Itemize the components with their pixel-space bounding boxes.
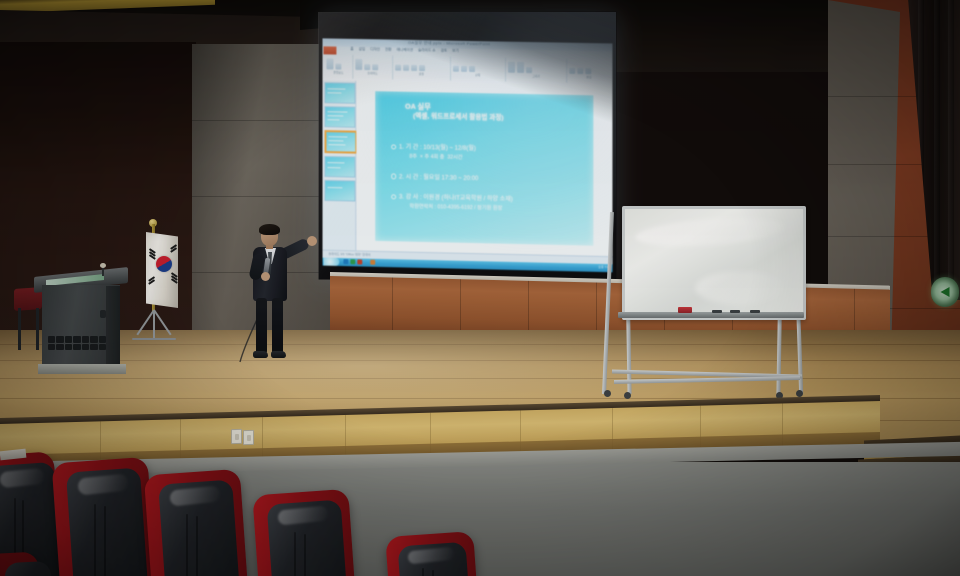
presenter	[243, 226, 327, 370]
slide-bullet: 2. 시 간 : 월요일 17:30 ~ 20:00	[391, 173, 587, 185]
ribbon-tab[interactable]: 전환	[385, 47, 392, 53]
emergency-exit-icon	[931, 277, 959, 307]
presenter-right-hand	[307, 236, 317, 246]
presenter-legs	[256, 298, 284, 356]
mobile-whiteboard	[600, 206, 810, 402]
whiteboard-surface[interactable]	[622, 206, 806, 320]
lectern-podium	[40, 272, 122, 376]
whiteboard-glare	[695, 271, 785, 305]
ribbon-tab[interactable]: 검토	[441, 48, 448, 54]
current-slide[interactable]: OA 실무 (엑셀, 워드프로세서 활용법 과정) 1. 기 간 : 10/13…	[375, 91, 593, 246]
flag-tripod-base	[132, 310, 176, 340]
status-bar-text: 슬라이드 3/5 "Office 테마" 한국어	[328, 252, 370, 257]
layout-icon[interactable]	[364, 64, 370, 70]
lectern-control-panel[interactable]	[48, 336, 106, 350]
find-icon[interactable]	[570, 68, 576, 74]
slide-bullet-subtext: 학원연락처 : 010-4395-6192 / 정기원 원장	[391, 204, 587, 216]
ribbon-tab[interactable]: 홈	[350, 47, 353, 53]
bullet-dot-icon	[391, 144, 396, 149]
lectern-side	[106, 286, 120, 364]
italic-icon[interactable]	[403, 65, 409, 71]
select-icon[interactable]	[586, 68, 592, 74]
slide-title-line1: OA 실무	[405, 102, 431, 111]
shapes-icon[interactable]	[508, 62, 515, 73]
align-icon[interactable]	[469, 66, 475, 72]
new-slide-icon[interactable]	[355, 59, 362, 70]
auditorium-seat-row	[0, 440, 960, 576]
ribbon-group-label: 클립보드	[326, 70, 350, 74]
ribbon-group-label: 글꼴	[395, 72, 448, 77]
ribbon-group-label: 단락	[453, 73, 503, 78]
gooseneck-microphone-icon	[102, 266, 104, 276]
whiteboard-marker-tray	[618, 312, 804, 318]
slide-title: OA 실무 (엑셀, 워드프로세서 활용법 과정)	[405, 102, 585, 125]
ribbon-tab[interactable]: 삽입	[359, 47, 366, 53]
slide-bullet-text: 2. 시 간 : 월요일 17:30 ~ 20:00	[399, 174, 478, 182]
powerpoint-workspace: OA 실무 (엑셀, 워드프로세서 활용법 과정) 1. 기 간 : 10/13…	[323, 80, 613, 256]
lectern-knob	[100, 310, 106, 318]
ribbon-group-label: 그리기	[508, 74, 565, 79]
ribbon-group-drawing[interactable]: 그리기	[506, 58, 568, 83]
copy-icon[interactable]	[335, 64, 341, 70]
bullet-dot-icon	[391, 194, 396, 199]
projection-screen: OA실무 안내.pptx - Microsoft PowerPoint 홈 삽입…	[319, 12, 617, 281]
ribbon-tab[interactable]: 애니메이션	[397, 48, 413, 54]
arrange-icon[interactable]	[517, 62, 524, 73]
bold-icon[interactable]	[395, 65, 401, 71]
auditorium-seat[interactable]	[0, 492, 60, 576]
replace-icon[interactable]	[578, 68, 584, 74]
presenter-left-hand	[261, 272, 270, 281]
ribbon-tab[interactable]: 보기	[452, 49, 459, 55]
slide-thumbnail[interactable]	[325, 180, 356, 202]
ribbon-group-clipboard[interactable]: 클립보드	[325, 54, 354, 78]
slide-bullet: 3. 강 사 : 이원경 (하나IT교육학원 / 하양 소재) 학원연락처 : …	[391, 193, 587, 215]
slide-thumbnail[interactable]	[325, 106, 356, 128]
projected-powerpoint-window: OA실무 안내.pptx - Microsoft PowerPoint 홈 삽입…	[323, 38, 613, 272]
bullets-icon[interactable]	[453, 66, 459, 72]
ribbon-group-editing[interactable]: 편집	[568, 59, 611, 84]
excel-icon[interactable]	[350, 260, 355, 265]
ribbon-groups: 클립보드 슬라이드 글꼴 단락	[325, 54, 611, 83]
powerpoint-icon[interactable]	[357, 260, 362, 265]
slide-body: 1. 기 간 : 10/13(월) ~ 12/8(월) 8주 × 주 4회 총 …	[391, 143, 587, 227]
wall-seam	[192, 196, 332, 197]
whiteboard-eraser-icon[interactable]	[678, 307, 692, 313]
section-icon[interactable]	[372, 64, 378, 70]
slide-bullet-subtext: 8주 × 주 4회 총 32시간	[391, 154, 587, 165]
powerpoint-ribbon: OA실무 안내.pptx - Microsoft PowerPoint 홈 삽입…	[323, 38, 613, 86]
ribbon-tab-strip[interactable]: 홈 삽입 디자인 전환 애니메이션 슬라이드 쇼 검토 보기	[325, 46, 459, 54]
bullet-dot-icon	[391, 174, 396, 179]
wall-seam	[192, 120, 332, 121]
slide-thumbnail-selected[interactable]	[325, 130, 358, 154]
numbering-icon[interactable]	[461, 66, 467, 72]
auditorium-seat[interactable]	[388, 456, 508, 576]
ribbon-group-paragraph[interactable]: 단락	[451, 57, 506, 82]
auditorium-photo-scene: OA실무 안내.pptx - Microsoft PowerPoint 홈 삽입…	[0, 0, 960, 576]
slide-bullet: 1. 기 간 : 10/13(월) ~ 12/8(월) 8주 × 주 4회 총 …	[391, 143, 587, 165]
paste-icon[interactable]	[326, 58, 333, 69]
underline-icon[interactable]	[411, 65, 417, 71]
window-task-icon[interactable]	[370, 260, 375, 265]
slide-bullet-text: 3. 강 사 : 이원경 (하나IT교육학원 / 하양 소재)	[399, 195, 513, 203]
slide-thumbnail[interactable]	[325, 82, 356, 104]
ribbon-group-slides[interactable]: 슬라이드	[353, 55, 393, 80]
quick-styles-icon[interactable]	[526, 67, 532, 73]
korean-flag-stand	[126, 224, 182, 344]
auditorium-seat[interactable]	[256, 442, 386, 576]
font-color-icon[interactable]	[419, 65, 425, 71]
explorer-icon[interactable]	[343, 259, 348, 264]
slide-thumbnail[interactable]	[325, 156, 356, 178]
ribbon-group-label: 편집	[570, 75, 609, 80]
ribbon-tab[interactable]: 슬라이드 쇼	[418, 48, 435, 54]
whiteboard-glare	[634, 214, 785, 250]
presenter-hair	[259, 224, 280, 235]
slide-title-line2: (엑셀, 워드프로세서 활용법 과정)	[405, 112, 585, 125]
lectern-base	[38, 364, 126, 374]
ribbon-group-label: 슬라이드	[355, 71, 390, 76]
slide-bullet-text: 1. 기 간 : 10/13(월) ~ 12/8(월)	[399, 145, 476, 153]
ribbon-group-font[interactable]: 글꼴	[393, 56, 451, 81]
slide-thumbnail-pane[interactable]	[323, 80, 357, 250]
ribbon-tab[interactable]: 디자인	[370, 47, 380, 53]
slide-editing-area[interactable]: OA 실무 (엑셀, 워드프로세서 활용법 과정) 1. 기 간 : 10/13…	[356, 81, 612, 256]
taeguk-symbol-icon	[156, 256, 172, 272]
